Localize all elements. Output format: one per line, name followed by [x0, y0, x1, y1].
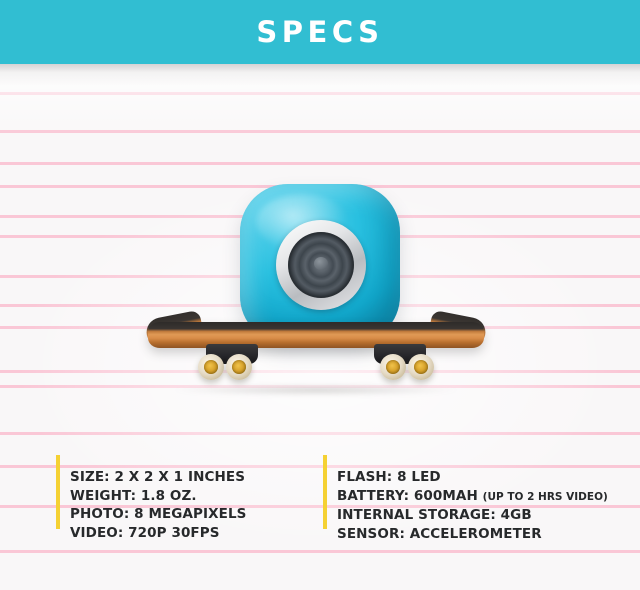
board-drop-shadow — [174, 384, 458, 396]
spec-text: SIZE: 2 X 2 X 1 INCHES — [70, 469, 245, 485]
spec-item: VIDEO: 720P 30FPS — [70, 524, 247, 543]
spec-item: FLASH: 8 LED — [337, 468, 608, 487]
spec-column-physical-specs: SIZE: 2 X 2 X 1 INCHES WEIGHT: 1.8 OZ. P… — [56, 452, 314, 538]
spec-text: WEIGHT: 1.8 OZ. — [70, 488, 197, 504]
header-bar: SPECS — [0, 0, 640, 64]
page-title: SPECS — [256, 18, 383, 47]
spec-list: SIZE: 2 X 2 X 1 INCHES WEIGHT: 1.8 OZ. P… — [70, 468, 247, 542]
board-wheel — [198, 354, 224, 380]
wheel-hub — [414, 360, 428, 374]
product-photo — [140, 170, 500, 420]
paper-rule-line — [0, 162, 640, 165]
paper-rule-line — [0, 130, 640, 133]
board-deck — [148, 322, 484, 348]
camera-lens-reflection — [314, 257, 328, 270]
spec-note: (UP TO 2 HRS VIDEO) — [483, 491, 608, 503]
specs-columns: SIZE: 2 X 2 X 1 INCHES WEIGHT: 1.8 OZ. P… — [0, 452, 640, 538]
spec-text: VIDEO: 720P 30FPS — [70, 525, 220, 541]
camera-lens-ring — [276, 220, 366, 310]
wheel-hub — [204, 360, 218, 374]
accent-bar — [56, 455, 60, 529]
spec-item: SIZE: 2 X 2 X 1 INCHES — [70, 468, 247, 487]
specs-infographic: SPECS — [0, 0, 640, 590]
spec-item: WEIGHT: 1.8 OZ. — [70, 487, 247, 506]
spec-item: SENSOR: ACCELEROMETER — [337, 525, 608, 544]
board-wheel — [380, 354, 406, 380]
spec-item: INTERNAL STORAGE: 4GB — [337, 506, 608, 525]
cube-camera-body — [240, 184, 400, 344]
paper-rule-line — [0, 92, 640, 95]
spec-text: PHOTO: 8 MEGAPIXELS — [70, 506, 247, 522]
accent-bar — [323, 455, 327, 529]
paper-rule-line — [0, 550, 640, 553]
fingerboard — [148, 322, 484, 356]
camera-lens — [288, 232, 354, 298]
board-wheel — [408, 354, 434, 380]
paper-rule-line — [0, 432, 640, 435]
wheel-hub — [232, 360, 246, 374]
spec-item: BATTERY: 600MAH (UP TO 2 HRS VIDEO) — [337, 487, 608, 507]
spec-text: BATTERY: 600MAH — [337, 488, 478, 504]
spec-list: FLASH: 8 LED BATTERY: 600MAH (UP TO 2 HR… — [337, 468, 608, 543]
board-wheel — [226, 354, 252, 380]
wheel-hub — [386, 360, 400, 374]
spec-text: SENSOR: ACCELEROMETER — [337, 526, 542, 542]
spec-column-hardware-specs: FLASH: 8 LED BATTERY: 600MAH (UP TO 2 HR… — [323, 452, 608, 538]
spec-text: INTERNAL STORAGE: 4GB — [337, 507, 532, 523]
spec-item: PHOTO: 8 MEGAPIXELS — [70, 505, 247, 524]
spec-text: FLASH: 8 LED — [337, 469, 441, 485]
